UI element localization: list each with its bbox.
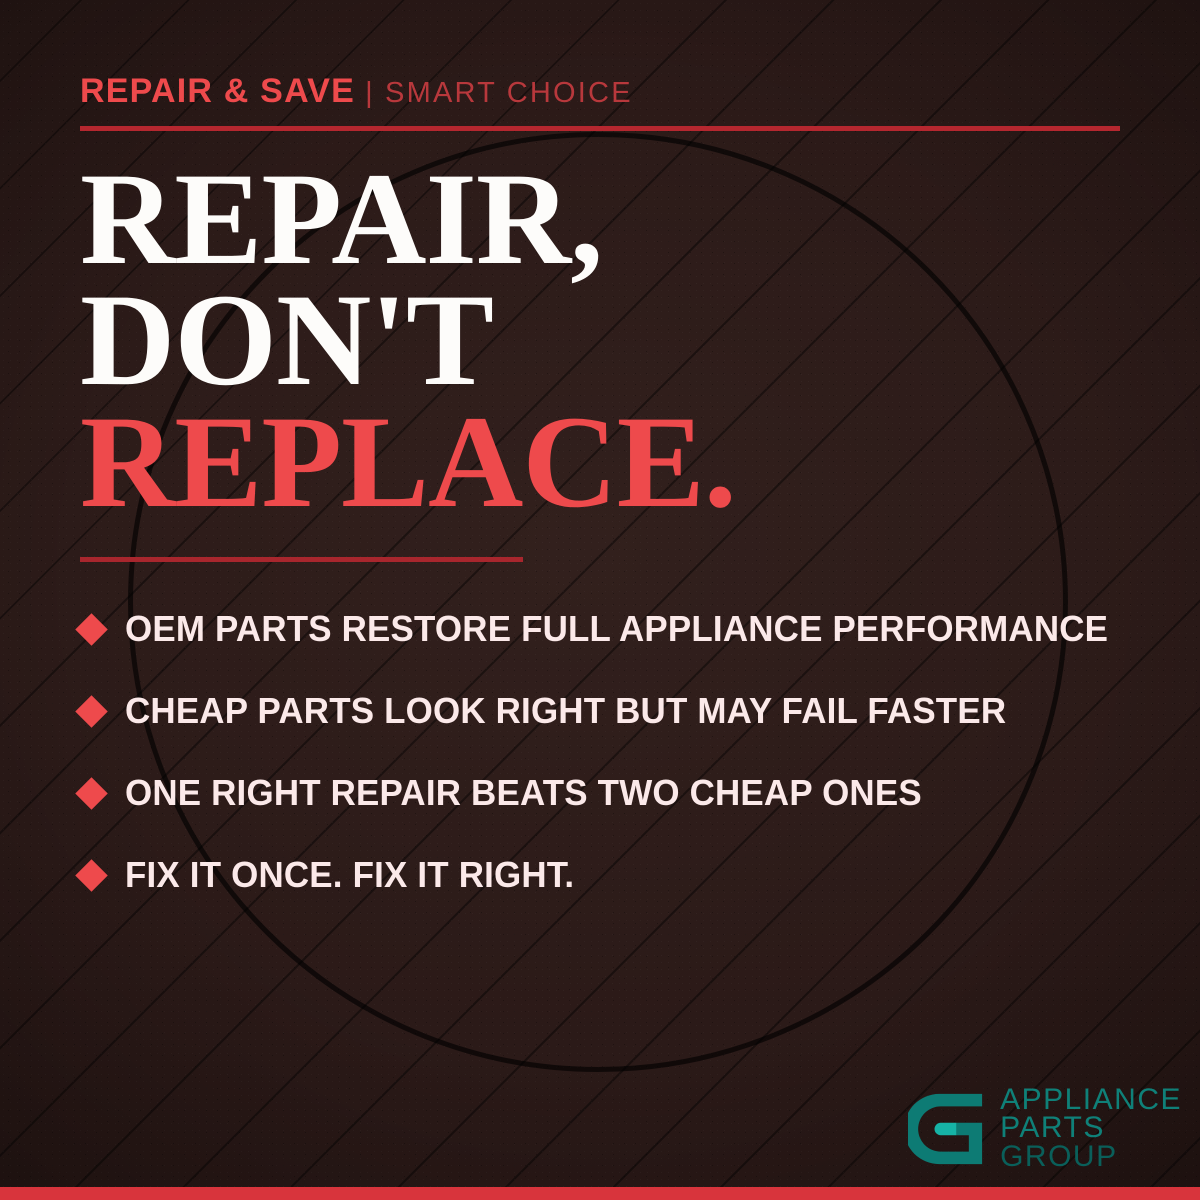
list-item-label: CHEAP PARTS LOOK RIGHT BUT MAY FAIL FAST… xyxy=(125,690,1006,732)
brand-logo: APPLIANCE PARTS GROUP xyxy=(908,1086,1182,1172)
bottom-accent-bar xyxy=(0,1187,1200,1200)
brand-word-group: GROUP xyxy=(1000,1143,1182,1172)
list-item-label: FIX IT ONCE. FIX IT RIGHT. xyxy=(125,854,574,896)
header-divider-rule xyxy=(80,126,1120,131)
list-item-label: ONE RIGHT REPAIR BEATS TWO CHEAP ONES xyxy=(125,772,922,814)
headline-line-3: REPLACE. xyxy=(80,401,1140,522)
list-item: FIX IT ONCE. FIX IT RIGHT. xyxy=(80,834,1160,916)
eyebrow-header: REPAIR & SAVE| SMART CHOICE xyxy=(80,74,633,108)
brand-logo-wordmark: APPLIANCE PARTS GROUP xyxy=(1000,1086,1182,1172)
diamond-bullet-icon xyxy=(75,695,108,728)
page-title: REPAIR, DON'T REPLACE. xyxy=(80,158,1140,522)
eyebrow-main-label: REPAIR & SAVE xyxy=(80,72,355,110)
list-item: ONE RIGHT REPAIR BEATS TWO CHEAP ONES xyxy=(80,752,1160,834)
headline-line-2: DON'T xyxy=(80,279,1140,400)
headline-line-1: REPAIR, xyxy=(80,158,1140,279)
appliance-parts-group-g-icon xyxy=(908,1090,986,1168)
diamond-bullet-icon xyxy=(75,613,108,646)
benefit-list: OEM PARTS RESTORE FULL APPLIANCE PERFORM… xyxy=(80,588,1160,916)
brand-word-parts: PARTS xyxy=(1000,1114,1182,1143)
list-item: CHEAP PARTS LOOK RIGHT BUT MAY FAIL FAST… xyxy=(80,670,1160,752)
list-item: OEM PARTS RESTORE FULL APPLIANCE PERFORM… xyxy=(80,588,1160,670)
diamond-bullet-icon xyxy=(75,777,108,810)
list-item-label: OEM PARTS RESTORE FULL APPLIANCE PERFORM… xyxy=(125,608,1108,650)
promo-poster: REPAIR & SAVE| SMART CHOICE REPAIR, DON'… xyxy=(0,0,1200,1200)
diamond-bullet-icon xyxy=(75,859,108,892)
headline-divider-rule xyxy=(80,557,523,562)
eyebrow-sub-label: | SMART CHOICE xyxy=(365,77,633,109)
brand-word-appliance: APPLIANCE xyxy=(1000,1086,1182,1115)
poster-content: REPAIR & SAVE| SMART CHOICE REPAIR, DON'… xyxy=(0,0,1200,1200)
